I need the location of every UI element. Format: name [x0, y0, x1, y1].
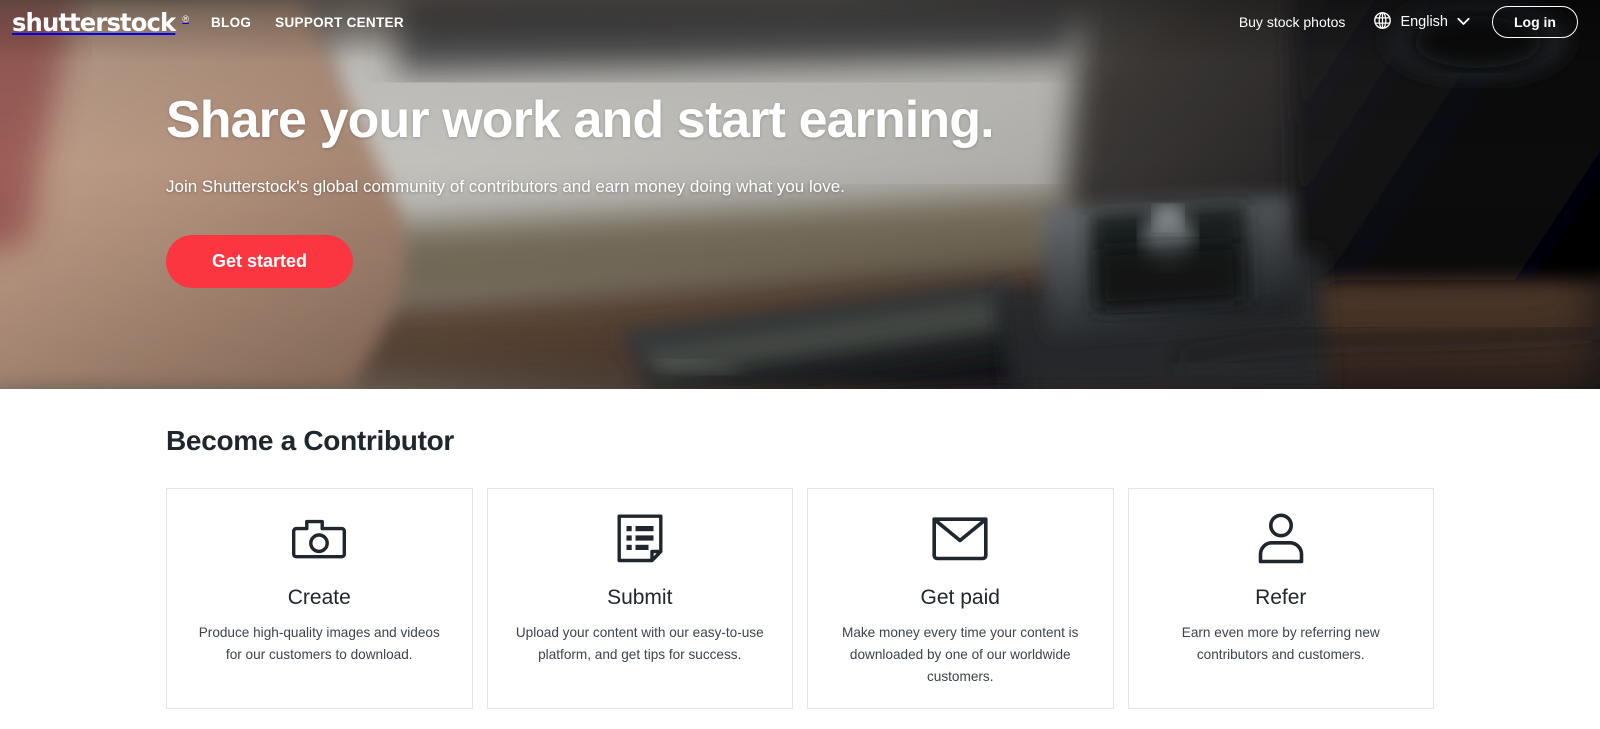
camera-icon: [292, 513, 346, 565]
card-refer[interactable]: Refer Earn even more by referring new co…: [1128, 488, 1435, 709]
top-nav-right-group: Buy stock photos English Log in: [1239, 6, 1578, 38]
hero-subtitle: Join Shutterstock's global community of …: [166, 175, 994, 199]
envelope-icon: [932, 513, 988, 565]
card-get-paid[interactable]: Get paid Make money every time your cont…: [807, 488, 1114, 709]
section-title: Become a Contributor: [166, 389, 1434, 457]
card-create[interactable]: Create Produce high-quality images and v…: [166, 488, 473, 709]
nav-link-blog[interactable]: BLOG: [211, 15, 251, 30]
logo-wordmark: shutterstock: [12, 10, 175, 35]
card-title: Get paid: [921, 585, 1000, 610]
card-description: Make money every time your content is do…: [830, 622, 1091, 688]
card-submit[interactable]: Submit Upload your content with our easy…: [487, 488, 794, 709]
card-description: Produce high-quality images and videos f…: [189, 622, 450, 666]
card-description: Earn even more by referring new contribu…: [1151, 622, 1412, 666]
card-title: Refer: [1255, 585, 1306, 610]
hero-copy-block: Share your work and start earning. Join …: [166, 92, 994, 288]
buy-stock-photos-link[interactable]: Buy stock photos: [1239, 14, 1346, 30]
language-selector[interactable]: English: [1373, 11, 1470, 34]
get-started-button[interactable]: Get started: [166, 235, 353, 288]
card-title: Create: [288, 585, 351, 610]
globe-icon: [1373, 11, 1392, 34]
list-document-icon: [617, 513, 663, 565]
hero-banner: shutterstock ® BLOG SUPPORT CENTER Buy s…: [0, 0, 1600, 389]
card-description: Upload your content with our easy-to-use…: [510, 622, 771, 666]
hero-title: Share your work and start earning.: [166, 92, 994, 149]
person-icon: [1256, 513, 1306, 565]
chevron-down-icon: [1457, 14, 1470, 30]
logo-trademark-icon: ®: [182, 15, 189, 24]
log-in-button[interactable]: Log in: [1492, 6, 1578, 38]
contributor-cards-row: Create Produce high-quality images and v…: [166, 488, 1434, 709]
card-title: Submit: [607, 585, 672, 610]
language-label: English: [1400, 14, 1448, 30]
become-a-contributor-section: Become a Contributor Create Produce high…: [0, 389, 1600, 709]
top-navigation-bar: shutterstock ® BLOG SUPPORT CENTER Buy s…: [0, 0, 1600, 44]
shutterstock-logo[interactable]: shutterstock ®: [12, 10, 189, 35]
nav-link-support-center[interactable]: SUPPORT CENTER: [275, 15, 404, 30]
